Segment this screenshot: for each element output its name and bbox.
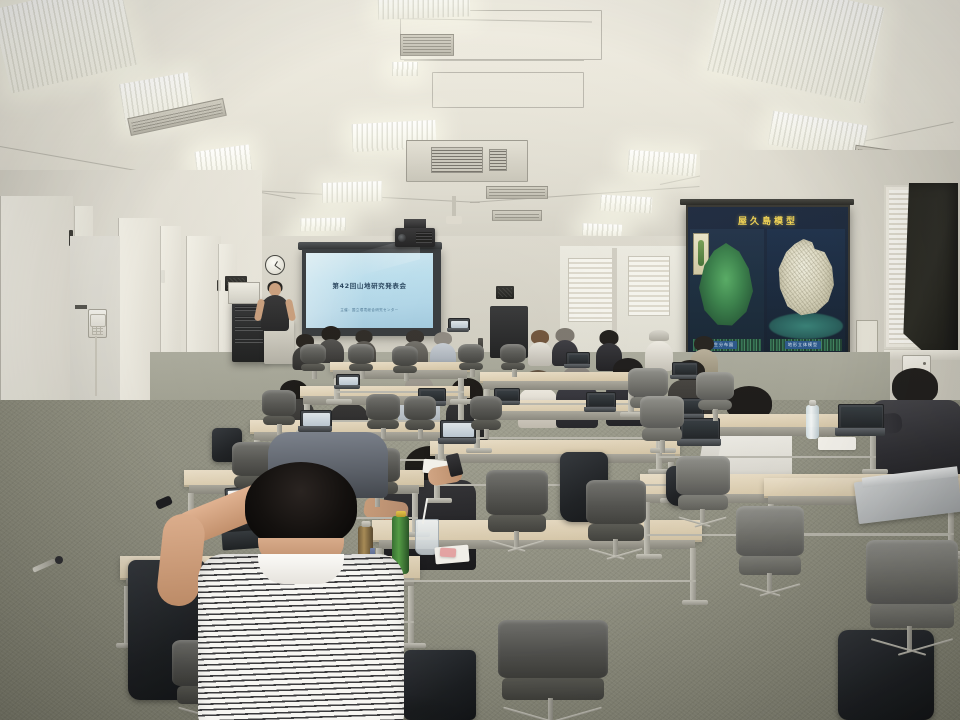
chair (696, 372, 734, 420)
terrain-relief-model (775, 239, 837, 321)
ceiling-light-panel (627, 150, 696, 177)
shirt-collar (258, 554, 344, 584)
chair-back (736, 506, 804, 556)
chair-back (366, 394, 400, 420)
chair-seat (502, 678, 603, 700)
chair-back (458, 344, 484, 363)
desk-foot (862, 469, 888, 474)
desk-rail (378, 580, 696, 582)
wall-clock (265, 255, 285, 275)
chair (676, 456, 730, 524)
chair-post (470, 369, 475, 377)
ac-vent (486, 186, 548, 199)
chair-back (486, 470, 548, 515)
desk-rail (476, 437, 664, 439)
chair-seat (488, 515, 545, 532)
chair-back (498, 620, 608, 678)
chair-seat (739, 556, 802, 575)
desk-leg (458, 378, 464, 399)
ac-diffuser (406, 140, 528, 182)
laptop[interactable] (838, 404, 882, 436)
water-bottle[interactable] (806, 405, 819, 439)
chair (640, 396, 684, 452)
chair (458, 344, 484, 376)
chair (866, 540, 958, 650)
chair (392, 346, 418, 380)
chair (736, 506, 804, 592)
chair-back (500, 344, 526, 363)
chair-post (713, 409, 718, 421)
ceiling-light-panel (300, 218, 346, 232)
projection-screen: 第42回山地研究発表会 主催：国立環境総合研究センター (302, 249, 441, 336)
chair-back (696, 372, 734, 400)
ceiling-light-panel (600, 195, 653, 214)
backpack (404, 650, 476, 720)
desk-foot (326, 399, 352, 404)
chair-back (392, 346, 418, 366)
interior-blinds (568, 258, 614, 322)
napkin (818, 437, 856, 450)
ceiling-light-panel (322, 181, 383, 203)
ceiling-rod (452, 196, 456, 218)
chair-back (676, 456, 730, 495)
poster-panel-vegetation: 植生分布図 (690, 229, 764, 353)
laptop[interactable] (300, 410, 330, 432)
door-stopper-knob (55, 556, 63, 564)
chair-post (404, 373, 409, 381)
ceiling-tile (432, 72, 584, 108)
foreground-attendee (196, 462, 406, 720)
chair-back (300, 344, 326, 364)
chair-back (404, 396, 436, 420)
laptop[interactable] (566, 352, 588, 368)
wall-label-plate (75, 305, 87, 309)
sea-ring (769, 313, 843, 339)
ceiling-light-panel (582, 223, 622, 236)
chair-post (312, 371, 317, 379)
chair-back (348, 344, 374, 364)
ac-vent (400, 34, 454, 56)
wall-phone[interactable] (88, 309, 107, 338)
poster-panel-relief: 地形立体模型 (767, 229, 845, 353)
chair (486, 470, 548, 548)
laptop[interactable] (672, 362, 696, 379)
desk-leg (690, 548, 696, 600)
chair-post (548, 698, 553, 720)
slide-subtitle: 主催：国立環境総合研究センター (306, 307, 433, 312)
ceiling-projector (395, 228, 435, 247)
white-equipment-box (228, 282, 260, 304)
desk-foot (426, 498, 452, 503)
wall-plate (856, 320, 878, 356)
chair (470, 396, 502, 438)
chair (586, 480, 646, 556)
desk-leg (870, 435, 876, 469)
slide-title: 第42回山地研究発表会 (306, 280, 433, 290)
chair-back (586, 480, 646, 524)
chair (404, 396, 436, 438)
ceiling-light-panel (378, 0, 471, 20)
attendee (430, 332, 456, 366)
chair-back (866, 540, 958, 604)
chair-back (628, 368, 668, 397)
yakushima-poster: 屋久島模型 植生分布図 地形立体模型 (686, 205, 850, 357)
projection-screen-surface: 第42回山地研究発表会 主催：国立環境総合研究センター (306, 253, 433, 328)
chair-back (470, 396, 502, 420)
laptop[interactable] (448, 318, 468, 332)
chair-back (262, 390, 296, 416)
laptop[interactable] (586, 392, 614, 412)
chair (300, 344, 326, 378)
desk-apron (435, 454, 675, 463)
ceiling-light-panel (392, 62, 418, 76)
chair-post (660, 440, 665, 453)
presenter (258, 281, 292, 333)
chair-seat (870, 604, 955, 628)
chair (500, 344, 526, 376)
poster-caption-right: 地形立体模型 (785, 341, 821, 349)
chair (348, 344, 374, 378)
chair-post (360, 371, 365, 379)
ceiling-sensor (446, 216, 462, 224)
chair (498, 620, 608, 720)
ceiling-seam (404, 60, 584, 61)
desk-foot (466, 448, 492, 453)
chair-post (512, 369, 517, 377)
laptop[interactable] (680, 418, 718, 446)
chair-post (484, 429, 489, 439)
desk-leg (408, 586, 414, 643)
interior-blinds (628, 256, 670, 316)
chair (262, 390, 296, 434)
phone-cord (95, 336, 97, 396)
ac-vent (492, 210, 542, 221)
projector-vents (416, 232, 432, 243)
projector-lens (398, 234, 406, 242)
poster-title: 屋久島模型 (688, 214, 848, 227)
attendee (528, 330, 552, 364)
chair-back (640, 396, 684, 428)
seminar-room-photo: 屋久島模型 植生分布図 地形立体模型 第42回山地研究発表会 主催：国立環境総合… (0, 0, 960, 720)
hair (245, 462, 357, 548)
laptop[interactable] (440, 420, 474, 444)
desk-foot (682, 600, 708, 605)
chair-post (418, 429, 423, 439)
snack-wrapper (440, 547, 457, 557)
wall-speaker (496, 286, 514, 299)
